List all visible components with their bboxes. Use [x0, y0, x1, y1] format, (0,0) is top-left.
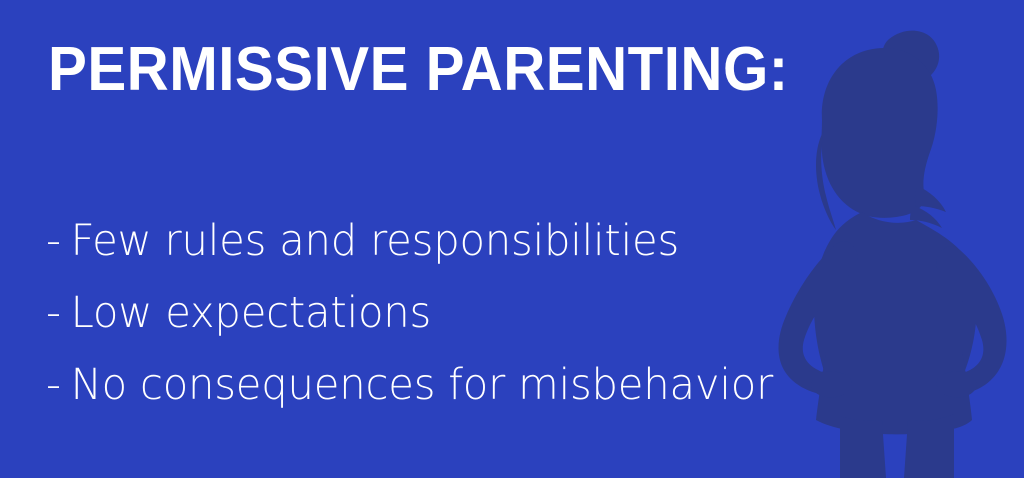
page-title: PERMISSIVE PARENTING: [48, 36, 789, 104]
list-item: -No consequences for misbehavior [46, 349, 977, 421]
list-item: -Few rules and responsibilities [46, 205, 977, 277]
slide-content: PERMISSIVE PARENTING: -Few rules and res… [0, 0, 1024, 478]
bullet-text: Few rules and responsibilities [71, 216, 679, 266]
list-item: -Low expectations [46, 277, 977, 349]
bullet-marker: - [46, 205, 61, 277]
bullet-text: No consequences for misbehavior [71, 360, 773, 410]
bullet-marker: - [46, 349, 61, 421]
permissive-parenting-slide: PERMISSIVE PARENTING: -Few rules and res… [0, 0, 1024, 478]
bullet-marker: - [46, 277, 61, 349]
bullet-list: -Few rules and responsibilities -Low exp… [46, 205, 1006, 421]
bullet-text: Low expectations [71, 288, 432, 338]
